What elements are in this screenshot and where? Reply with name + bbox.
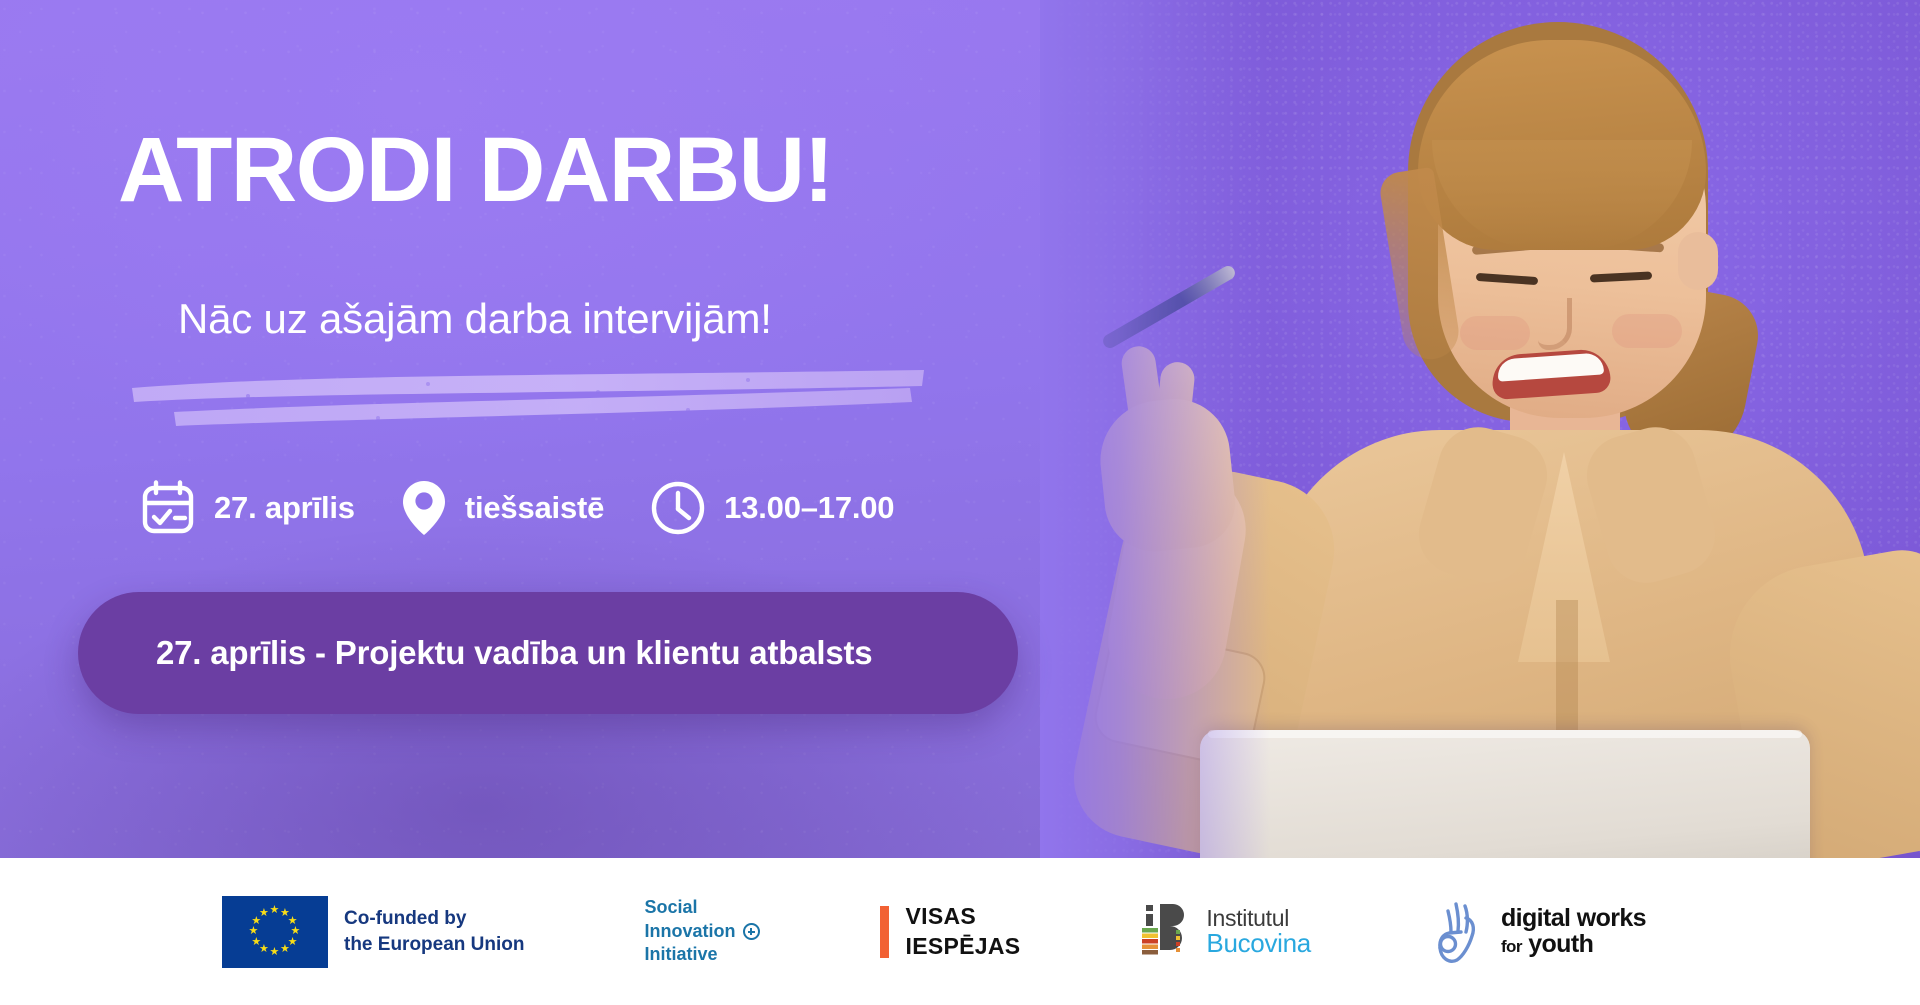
collar-left <box>1409 418 1556 593</box>
partner-logo-bar: ★★★★★★★★★★★★ Co-funded by the European U… <box>0 858 1920 1005</box>
subheadline: Nāc uz ašajām darba intervijām! <box>178 295 772 343</box>
eu-star-icon: ★ <box>280 944 290 955</box>
ear <box>1678 232 1718 290</box>
arm-left <box>1063 452 1347 858</box>
dw-line-1: digital works <box>1501 906 1646 932</box>
eye-left <box>1476 273 1538 285</box>
dw-text: digital works for youth <box>1501 906 1646 957</box>
ib-line-2: Bucovina <box>1206 930 1311 958</box>
logo-visas-iespejas: VISAS IESPĒJAS <box>880 902 1021 962</box>
pen <box>1101 263 1238 350</box>
person-illustration <box>1040 0 1920 858</box>
mouth <box>1491 348 1612 400</box>
hand-left <box>1095 394 1240 557</box>
dw-for: for <box>1501 937 1522 956</box>
plus-circle-icon <box>743 923 760 940</box>
neck <box>1510 330 1620 490</box>
session-cta-button[interactable]: 27. aprīlis - Projektu vadība un klientu… <box>78 592 1018 714</box>
forearm-left <box>1099 462 1255 709</box>
brush-underline-icon <box>128 368 928 428</box>
blush-left <box>1460 316 1530 350</box>
collar-right <box>1577 418 1724 593</box>
ok-hand-icon <box>1431 898 1489 966</box>
eu-star-icon: ★ <box>270 905 280 916</box>
session-cta-label: 27. aprīlis - Projektu vadība un klientu… <box>156 634 872 672</box>
logo-institutul-bucovina: Institutul Bucovina <box>1140 900 1311 964</box>
eu-text: Co-funded by the European Union <box>344 906 525 956</box>
dw-line-2: youth <box>1528 930 1593 958</box>
blouse-placket <box>1556 600 1578 850</box>
hair-back <box>1408 22 1708 422</box>
eu-star-icon: ★ <box>251 937 261 948</box>
meta-label-location: tiešsaistē <box>465 490 604 526</box>
meta-label-date: 27. aprīlis <box>214 490 355 526</box>
meta-item-time: 13.00–17.00 <box>650 480 894 536</box>
logo-digital-works-for-youth: digital works for youth <box>1431 898 1646 966</box>
sii-line-2: Innovation <box>645 921 736 941</box>
hair-front <box>1418 40 1706 250</box>
eyebrow-right <box>1592 238 1664 252</box>
hero-section: ATRODI DARBU! Nāc uz ašajām darba interv… <box>0 0 1920 858</box>
torso-blouse <box>1270 430 1870 858</box>
logo-social-innovation-initiative: Social Innovation Initiative <box>645 896 760 966</box>
eu-flag-icon: ★★★★★★★★★★★★ <box>222 896 328 968</box>
laptop-screen-edge <box>1208 730 1802 738</box>
finger-middle <box>1154 360 1196 443</box>
logo-european-union: ★★★★★★★★★★★★ Co-funded by the European U… <box>222 896 525 968</box>
nose <box>1538 298 1572 350</box>
finger-index <box>1119 344 1166 444</box>
blouse-neckline <box>1518 452 1610 662</box>
meta-item-location: tiešsaistē <box>401 479 604 537</box>
ib-books-icon <box>1140 900 1196 964</box>
orange-bar-icon <box>880 906 889 958</box>
sii-text: Social Innovation Initiative <box>645 896 760 966</box>
photo-left-fade <box>1040 0 1270 858</box>
arm-right <box>1716 542 1920 858</box>
eu-line-2: the European Union <box>344 932 525 957</box>
headline: ATRODI DARBU! <box>118 124 833 216</box>
photo-background <box>1040 0 1920 858</box>
vi-text: VISAS IESPĒJAS <box>906 902 1021 962</box>
event-meta-row: 27. aprīlis tiešsaistē 13.00–17.0 <box>140 468 894 548</box>
hair-strand <box>1377 167 1462 363</box>
ib-text: Institutul Bucovina <box>1206 906 1311 958</box>
ib-line-1: Institutul <box>1206 906 1311 930</box>
clock-icon <box>650 480 706 536</box>
meta-label-time: 13.00–17.00 <box>724 490 894 526</box>
photo-speckle-texture <box>1040 0 1920 858</box>
sii-line-1: Social <box>645 896 760 919</box>
teeth <box>1497 352 1604 381</box>
bangs <box>1432 140 1692 250</box>
eu-line-1: Co-funded by <box>344 906 525 931</box>
vi-line-2: IESPĒJAS <box>906 932 1021 962</box>
dw-line-2-wrap: for youth <box>1501 932 1646 958</box>
cuff-left <box>1090 625 1270 771</box>
hero-copy: ATRODI DARBU! Nāc uz ašajām darba interv… <box>0 0 1060 858</box>
laptop <box>1200 730 1810 858</box>
eu-star-icon: ★ <box>249 926 259 937</box>
face <box>1438 78 1706 418</box>
vi-line-1: VISAS <box>906 902 1021 932</box>
sii-line-3: Initiative <box>645 943 760 966</box>
ponytail <box>1615 280 1765 470</box>
location-pin-icon <box>401 479 447 537</box>
promo-banner: ATRODI DARBU! Nāc uz ašajām darba interv… <box>0 0 1920 1005</box>
eu-star-icon: ★ <box>259 908 269 919</box>
calendar-check-icon <box>140 480 196 536</box>
blush-right <box>1612 314 1682 348</box>
eyebrow-left <box>1472 240 1543 255</box>
sii-line-2-wrap: Innovation <box>645 920 760 943</box>
meta-item-date: 27. aprīlis <box>140 480 355 536</box>
eu-star-icon: ★ <box>270 947 280 958</box>
eye-right <box>1590 271 1652 282</box>
hero-photo <box>1040 0 1920 858</box>
